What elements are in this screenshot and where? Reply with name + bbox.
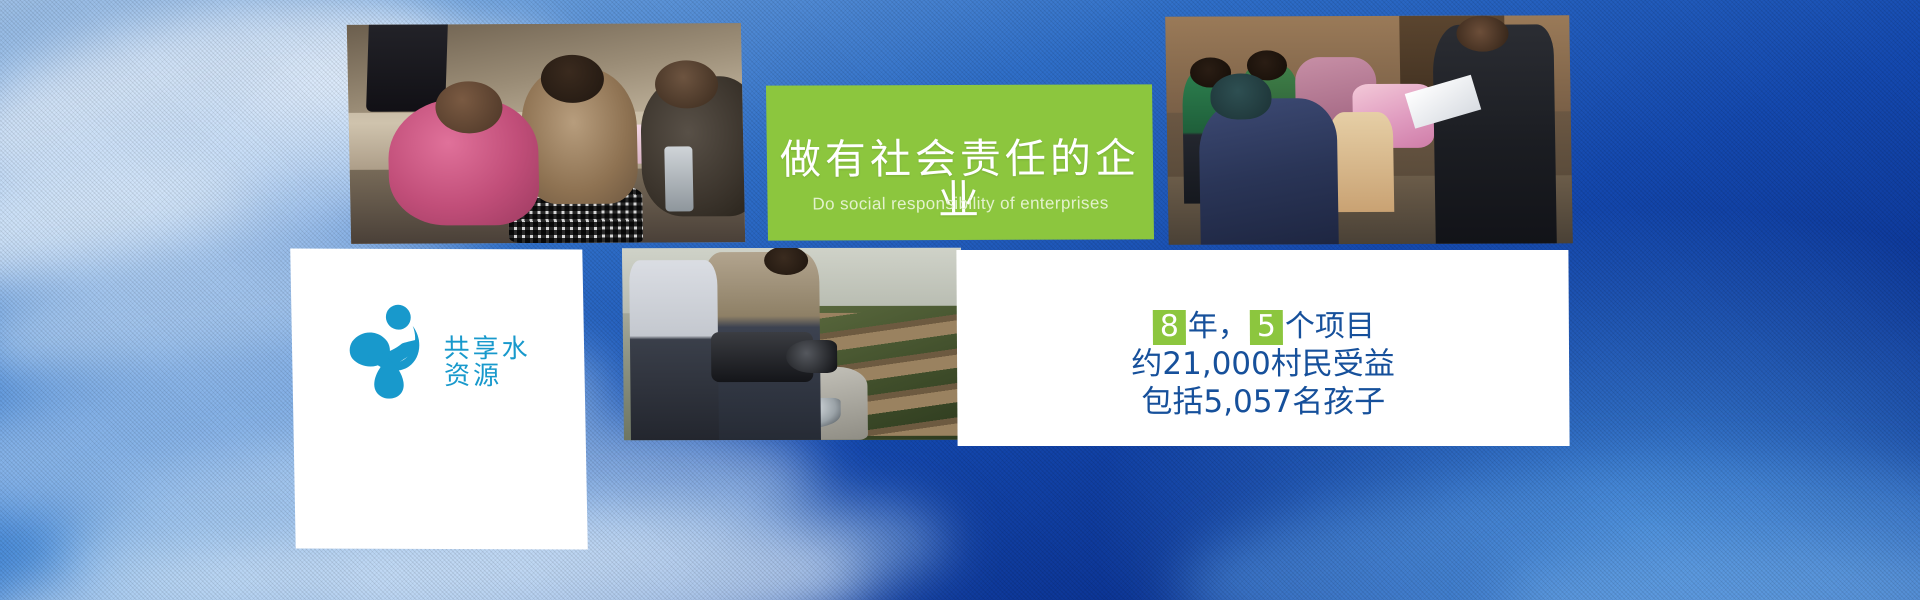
slogan-subtitle-en: Do social responsibility of enterprises — [767, 194, 1153, 212]
stat-projects-value: 5 — [1250, 310, 1283, 345]
stats-line-projects: 8年，5个项目 — [957, 308, 1569, 346]
photo-top-left — [347, 23, 745, 244]
photo-artwork — [347, 23, 745, 244]
stat-years-unit: 年， — [1188, 309, 1248, 344]
stats-content: 8年，5个项目 约21,000村民受益 包括5,057名孩子 — [957, 308, 1570, 421]
photo-artwork — [622, 248, 963, 441]
banner-stage: 做有社会责任的企业 Do social responsibility of en… — [0, 0, 1920, 600]
stats-line-children: 包括5,057名孩子 — [957, 384, 1569, 422]
logo-brand-text: 共享水 资源 — [443, 310, 532, 390]
stat-years-value: 8 — [1153, 310, 1186, 345]
photo-top-right — [1165, 15, 1573, 244]
logo-panel: 共享水 资源 — [290, 249, 588, 550]
photo-artwork — [1165, 15, 1573, 244]
logo-lockup: 共享水 资源 — [291, 301, 585, 400]
stats-panel: 8年，5个项目 约21,000村民受益 包括5,057名孩子 — [956, 250, 1569, 446]
stat-projects-unit: 个项目 — [1285, 309, 1375, 344]
photo-bottom-center — [622, 248, 963, 441]
stats-line-villagers: 约21,000村民受益 — [957, 346, 1569, 384]
slogan-panel: 做有社会责任的企业 Do social responsibility of en… — [766, 84, 1154, 240]
water-drop-person-logo-icon — [345, 301, 439, 399]
